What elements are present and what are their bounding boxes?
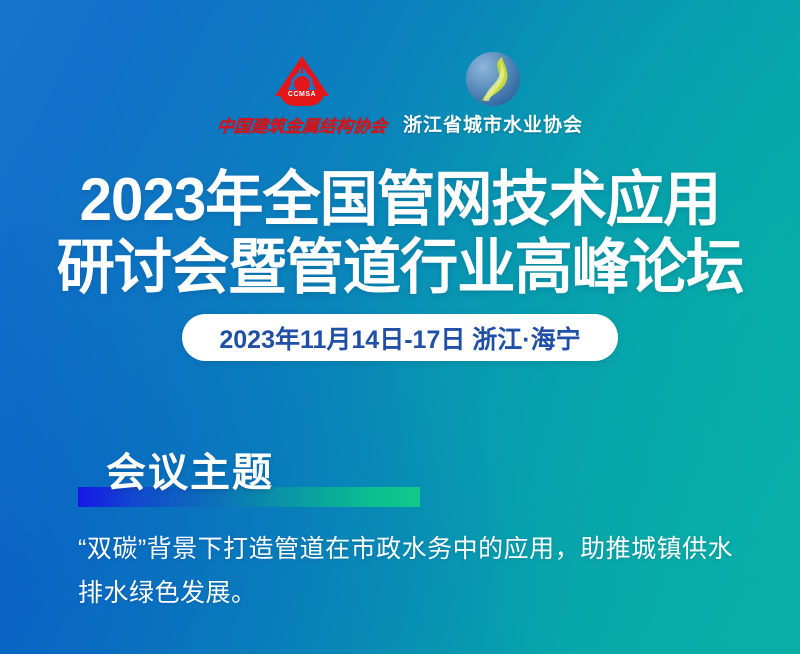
page-title: 2023年全国管网技术应用 研讨会暨管道行业高峰论坛 [0, 166, 800, 302]
date-location-label: 2023年11月14日-17日 浙江·海宁 [219, 320, 580, 356]
theme-heading-label: 会议主题 [78, 444, 274, 502]
zhejiang-water-name-label: 浙江省城市水业协会 [403, 110, 583, 137]
organizer-zhejiang-water: 浙江省城市水业协会 [403, 52, 583, 137]
ccmsa-acronym-label: CCMSA [279, 91, 325, 98]
title-line-2: 研讨会暨管道行业高峰论坛 [12, 234, 788, 302]
organizer-logo-row: CCMSA 中国建筑金属结构协会 浙江省城市水业协会 [0, 52, 800, 137]
theme-body-text: “双碳”背景下打造管道在市政水务中的应用，助推城镇供水排水绿色发展。 [78, 527, 738, 615]
date-location-pill: 2023年11月14日-17日 浙江·海宁 [182, 314, 618, 361]
theme-heading: 会议主题 [78, 444, 274, 502]
title-line-1: 2023年全国管网技术应用 [12, 166, 788, 234]
wave-swoosh-icon [480, 56, 510, 102]
zhejiang-water-globe-logo-icon [466, 52, 520, 106]
ccmsa-name-label: 中国建筑金属结构协会 [216, 112, 389, 137]
organizer-ccmsa: CCMSA 中国建筑金属结构协会 [217, 56, 387, 137]
ccmsa-triangle-logo-icon: CCMSA [274, 56, 330, 108]
conference-poster: CCMSA 中国建筑金属结构协会 浙江省城市水业协会 2023年全国管网技术应用… [0, 0, 800, 654]
